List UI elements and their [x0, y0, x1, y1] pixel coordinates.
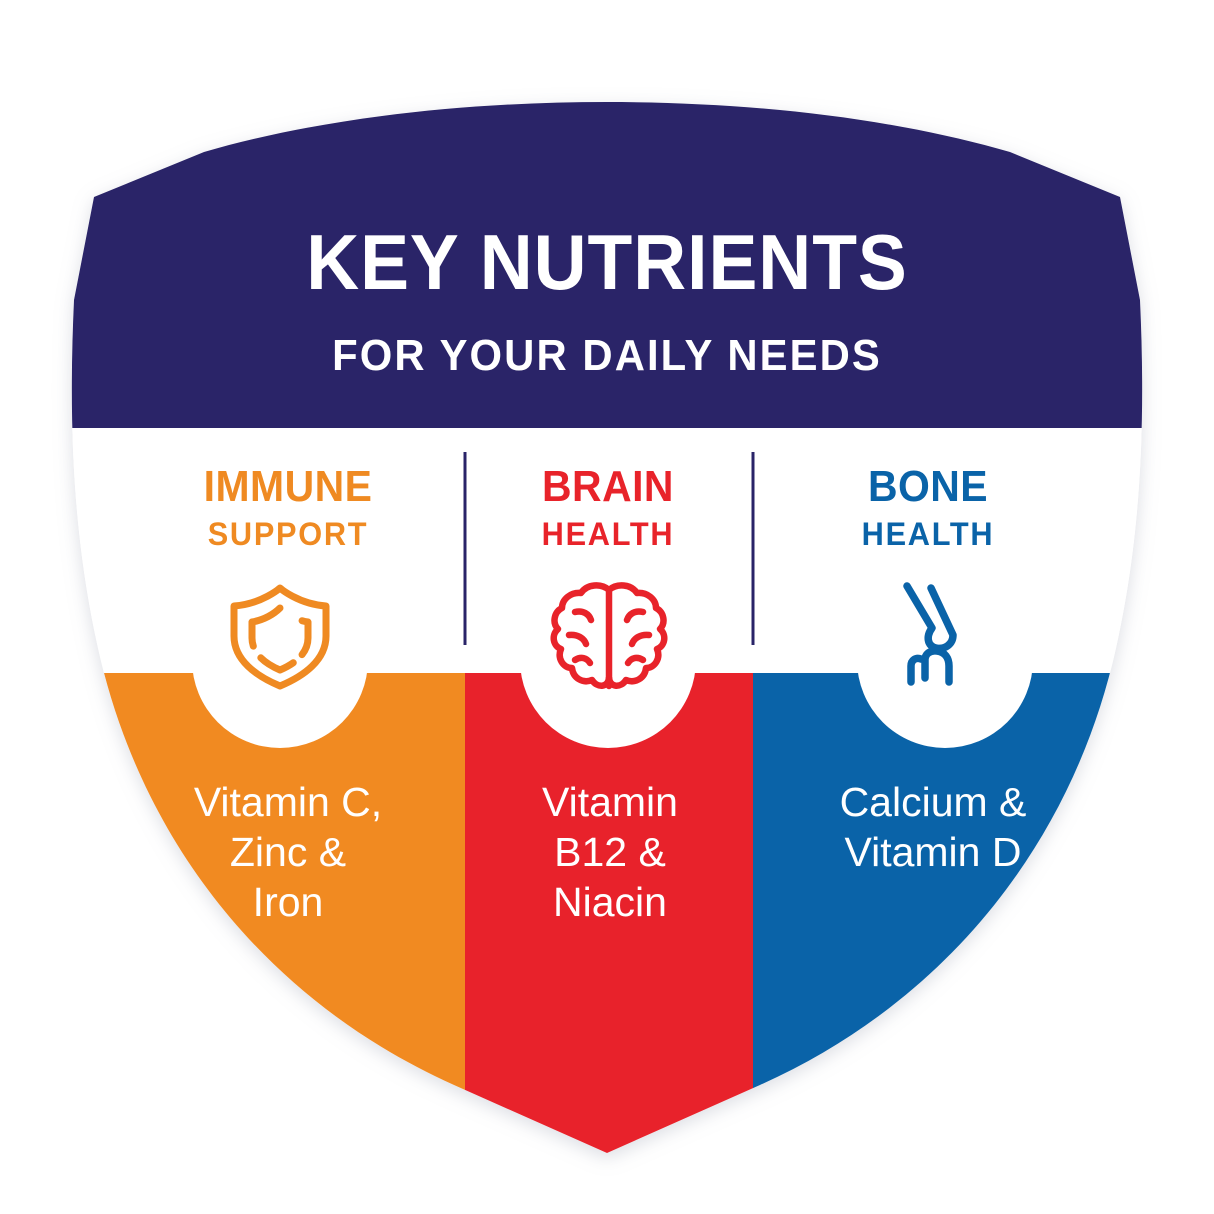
shield-graphic [0, 0, 1214, 1214]
band-bone [753, 673, 1214, 1214]
infographic-canvas: KEY NUTRIENTS FOR YOUR DAILY NEEDS IMMUN… [0, 0, 1214, 1214]
notch-bone [857, 572, 1033, 748]
band-brain [465, 673, 753, 1214]
header-band [0, 0, 1214, 428]
band-immune [0, 673, 465, 1214]
notch-brain [520, 572, 696, 748]
notch-immune [192, 572, 368, 748]
